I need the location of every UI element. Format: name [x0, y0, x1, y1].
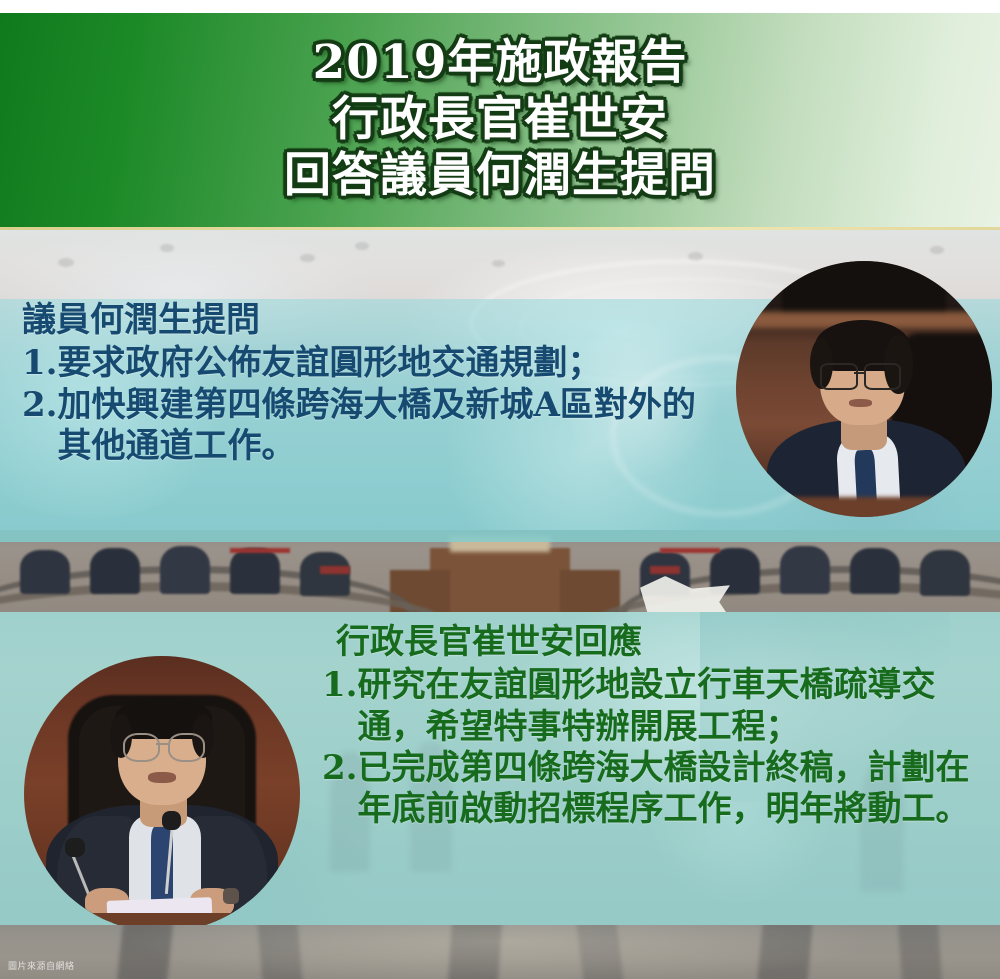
question-item-number: 2. [22, 385, 58, 468]
page-title-line-3: 回答議員何潤生提問 [284, 149, 716, 204]
poster-root: 2019年施政報告 行政長官崔世安 回答議員何潤生提問 [0, 0, 1000, 979]
portrait-chief-executive [24, 656, 300, 925]
portrait-legislator [736, 261, 992, 517]
answer-section: 行政長官崔世安回應 1. 研究在友誼圓形地設立行車天橋疏導交通，希望特事特辦開展… [0, 612, 1000, 925]
answer-item-number: 1. [322, 665, 358, 748]
question-text-block: 議員何潤生提問 1. 要求政府公佈友誼圓形地交通規劃； 2. 加快興建第四條跨海… [22, 300, 722, 468]
page-title-line-1: 2019年施政報告 [313, 36, 688, 91]
question-section: 議員何潤生提問 1. 要求政府公佈友誼圓形地交通規劃； 2. 加快興建第四條跨海… [0, 227, 1000, 530]
question-item-number: 1. [22, 343, 58, 384]
source-watermark: 圖片來源自網絡 [8, 959, 75, 972]
header-banner: 2019年施政報告 行政長官崔世安 回答議員何潤生提問 [0, 13, 1000, 227]
accent-line [0, 227, 1000, 230]
answer-heading: 行政長官崔世安回應 [336, 622, 994, 663]
answer-text-block: 行政長官崔世安回應 1. 研究在友誼圓形地設立行車天橋疏導交通，希望特事特辦開展… [322, 622, 994, 830]
footer-photo-strip: 圖片來源自網絡 [0, 925, 1000, 979]
header-title-block: 2019年施政報告 行政長官崔世安 回答議員何潤生提問 [0, 13, 1000, 227]
answer-item-number: 2. [322, 748, 358, 831]
teal-overlay-top [0, 530, 1000, 542]
answer-item: 1. 研究在友誼圓形地設立行車天橋疏導交通，希望特事特辦開展工程； [322, 665, 994, 748]
page-title-line-2: 行政長官崔世安 [332, 93, 668, 148]
top-white-strip [0, 0, 1000, 13]
question-heading: 議員何潤生提問 [22, 300, 722, 341]
question-item-text: 要求政府公佈友誼圓形地交通規劃； [58, 343, 723, 384]
answer-item-text: 研究在友誼圓形地設立行車天橋疏導交通，希望特事特辦開展工程； [358, 665, 995, 748]
question-item: 2. 加快興建第四條跨海大橋及新城A區對外的其他通道工作。 [22, 385, 722, 468]
question-item: 1. 要求政府公佈友誼圓形地交通規劃； [22, 343, 722, 384]
answer-item-text: 已完成第四條跨海大橋設計終稿，計劃在年底前啟動招標程序工作，明年將動工。 [358, 748, 995, 831]
question-item-text: 加快興建第四條跨海大橋及新城A區對外的其他通道工作。 [58, 385, 723, 468]
answer-item: 2. 已完成第四條跨海大橋設計終稿，計劃在年底前啟動招標程序工作，明年將動工。 [322, 748, 994, 831]
